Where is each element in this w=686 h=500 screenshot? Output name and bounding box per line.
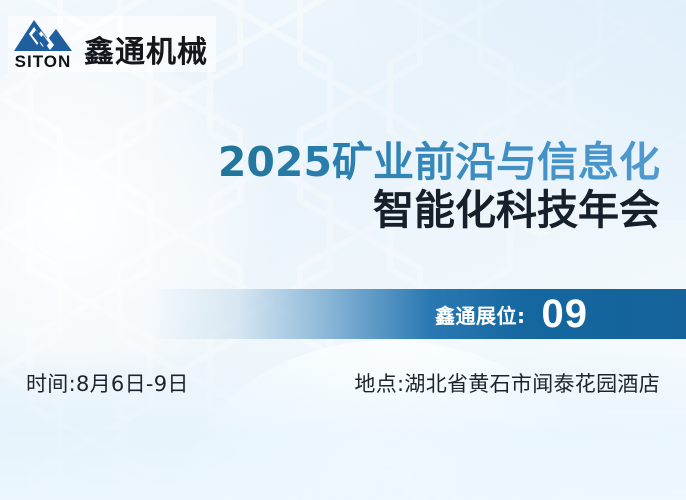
brand-logo: SITON 鑫通机械 [8,16,216,72]
event-time: 时间:8月6日-9日 [26,368,189,398]
hexagon-pattern-background [0,0,686,500]
booth-label: 鑫通展位: [435,300,526,329]
logo-chinese-name: 鑫通机械 [84,38,208,70]
event-location: 地点:湖北省黄石市闻泰花园酒店 [354,368,660,398]
booth-number: 09 [542,294,589,334]
background-glow-bottom [180,340,600,500]
headline-line-2: 智能化科技年会 [0,186,660,234]
event-info-row: 时间:8月6日-9日 地点:湖北省黄石市闻泰花园酒店 [26,368,660,398]
siton-mountain-icon [12,18,74,52]
logo-mark: SITON [12,18,74,70]
booth-banner: 鑫通展位: 09 [150,289,686,339]
poster-headline: 2025矿业前沿与信息化 智能化科技年会 [0,140,660,234]
event-poster: SITON 鑫通机械 2025矿业前沿与信息化 智能化科技年会 鑫通展位: 09… [0,0,686,500]
headline-line-1: 2025矿业前沿与信息化 [0,140,660,186]
logo-latin-name: SITON [15,53,72,70]
